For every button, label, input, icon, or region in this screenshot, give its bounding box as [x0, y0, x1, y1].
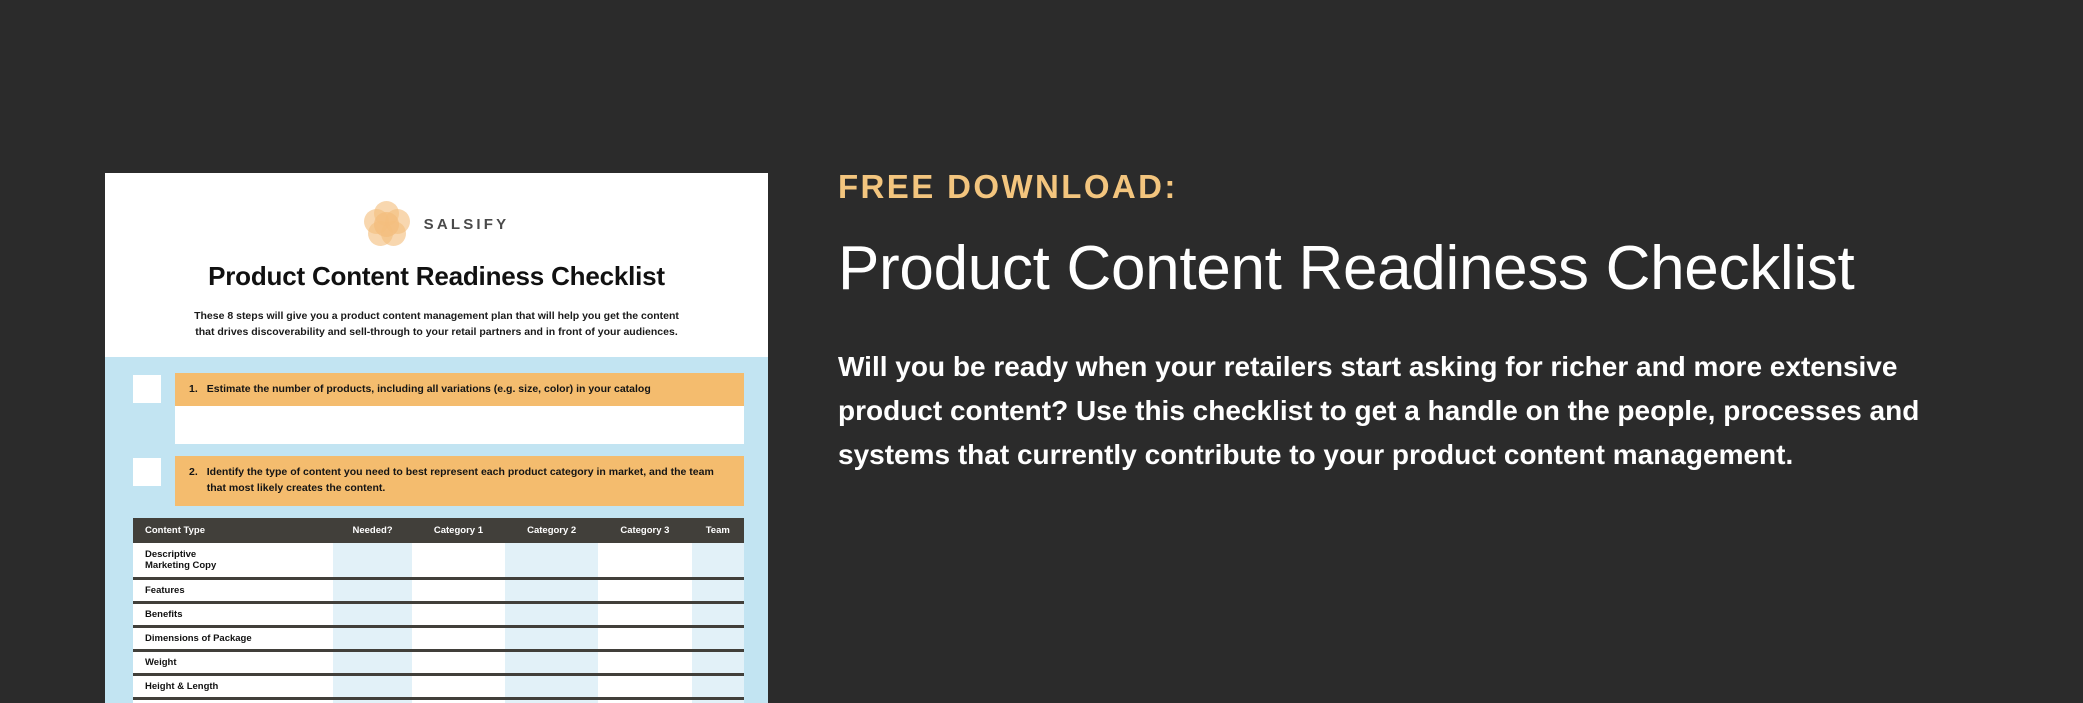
table-header-row: Content Type Needed? Category 1 Category…	[133, 518, 744, 543]
checklist-item-content: 2. Identify the type of content you need…	[175, 456, 744, 506]
table-cell-needed[interactable]	[333, 675, 412, 699]
table-cell-label: Height & Length	[133, 675, 333, 699]
checklist-item-text-before: Identify the type of content you need to	[207, 466, 406, 478]
table-row[interactable]: Size	[133, 699, 744, 703]
checklist-item-text: Identify the type of content you need to…	[207, 465, 730, 497]
promo-eyebrow: FREE DOWNLOAD:	[838, 168, 2018, 206]
table-cell-needed[interactable]	[333, 579, 412, 603]
table-row[interactable]: Features	[133, 579, 744, 603]
document-header: SALSIFY Product Content Readiness Checkl…	[105, 173, 768, 357]
table-cell-needed[interactable]	[333, 627, 412, 651]
checklist-checkbox[interactable]	[133, 458, 161, 486]
table-cell-category-1[interactable]	[412, 699, 505, 703]
table-row[interactable]: Height & Length	[133, 675, 744, 699]
table-cell-category-1[interactable]	[412, 627, 505, 651]
table-column-header: Category 1	[412, 518, 505, 543]
salsify-flower-icon	[364, 201, 410, 247]
table-cell-label: Size	[133, 699, 333, 703]
table-row[interactable]: Weight	[133, 651, 744, 675]
table-cell-category-3[interactable]	[598, 651, 691, 675]
page-root: SALSIFY Product Content Readiness Checkl…	[0, 0, 2083, 703]
checklist-item-bar: 2. Identify the type of content you need…	[175, 456, 744, 506]
promo-title: Product Content Readiness Checklist	[838, 230, 2018, 309]
table-cell-label: Weight	[133, 651, 333, 675]
checklist-write-area[interactable]	[175, 406, 744, 444]
table-cell-label: Descriptive Marketing Copy	[133, 543, 333, 579]
table-cell-category-1[interactable]	[412, 675, 505, 699]
promo-panel: FREE DOWNLOAD: Product Content Readiness…	[838, 168, 2018, 477]
table-cell-category-2[interactable]	[505, 603, 598, 627]
table-cell-label-line-2: Marketing Copy	[145, 560, 329, 571]
document-subtitle: These 8 steps will give you a product co…	[172, 308, 702, 341]
document-subtitle-line-1: These 8 steps will give you a product co…	[194, 310, 679, 322]
table-cell-category-3[interactable]	[598, 543, 691, 579]
table-cell-category-2[interactable]	[505, 651, 598, 675]
table-cell-team[interactable]	[692, 543, 744, 579]
checklist-checkbox[interactable]	[133, 375, 161, 403]
checklist-item-bar: 1. Estimate the number of products, incl…	[175, 373, 744, 407]
table-cell-team[interactable]	[692, 603, 744, 627]
table-column-header: Category 2	[505, 518, 598, 543]
table-cell-needed[interactable]	[333, 651, 412, 675]
table-column-header: Content Type	[133, 518, 333, 543]
document-title: Product Content Readiness Checklist	[105, 261, 768, 292]
checklist-item-number: 1.	[189, 382, 198, 398]
content-type-table[interactable]: Content Type Needed? Category 1 Category…	[133, 518, 744, 703]
logo-wordmark: SALSIFY	[424, 216, 510, 233]
promo-body: Will you be ready when your retailers st…	[838, 345, 1963, 478]
table-cell-category-3[interactable]	[598, 699, 691, 703]
table-cell-category-3[interactable]	[598, 603, 691, 627]
table-cell-category-2[interactable]	[505, 579, 598, 603]
table-cell-needed[interactable]	[333, 543, 412, 579]
table-cell-team[interactable]	[692, 651, 744, 675]
checklist-item-text-emphasis: best	[406, 466, 428, 478]
checklist-item[interactable]: 1. Estimate the number of products, incl…	[105, 373, 768, 445]
table-cell-category-2[interactable]	[505, 627, 598, 651]
table-cell-team[interactable]	[692, 627, 744, 651]
logo-row: SALSIFY	[105, 201, 768, 247]
table-row[interactable]: Dimensions of Package	[133, 627, 744, 651]
table-cell-category-3[interactable]	[598, 675, 691, 699]
table-cell-team[interactable]	[692, 699, 744, 703]
table-column-header: Needed?	[333, 518, 412, 543]
document-preview[interactable]: SALSIFY Product Content Readiness Checkl…	[105, 173, 768, 703]
table-column-header: Team	[692, 518, 744, 543]
table-cell-category-3[interactable]	[598, 627, 691, 651]
document-body: 1. Estimate the number of products, incl…	[105, 357, 768, 703]
table-row[interactable]: Descriptive Marketing Copy	[133, 543, 744, 579]
checklist-item[interactable]: 2. Identify the type of content you need…	[105, 456, 768, 506]
document-subtitle-line-2: that drives discoverability and sell-thr…	[195, 326, 678, 338]
table-cell-category-1[interactable]	[412, 543, 505, 579]
table-cell-team[interactable]	[692, 579, 744, 603]
table-cell-label-line-1: Descriptive	[145, 549, 329, 560]
table-cell-team[interactable]	[692, 675, 744, 699]
table-column-header: Category 3	[598, 518, 691, 543]
table-cell-category-2[interactable]	[505, 699, 598, 703]
checklist-item-content: 1. Estimate the number of products, incl…	[175, 373, 744, 445]
checklist-item-text: Estimate the number of products, includi…	[207, 382, 651, 398]
table-cell-category-2[interactable]	[505, 675, 598, 699]
table-cell-category-3[interactable]	[598, 579, 691, 603]
checklist-item-number: 2.	[189, 465, 198, 497]
table-cell-label: Benefits	[133, 603, 333, 627]
table-cell-needed[interactable]	[333, 603, 412, 627]
table-cell-needed[interactable]	[333, 699, 412, 703]
table-cell-category-2[interactable]	[505, 543, 598, 579]
table-cell-label: Dimensions of Package	[133, 627, 333, 651]
table-row[interactable]: Benefits	[133, 603, 744, 627]
table-cell-category-1[interactable]	[412, 651, 505, 675]
table-cell-category-1[interactable]	[412, 579, 505, 603]
table-cell-category-1[interactable]	[412, 603, 505, 627]
table-cell-label: Features	[133, 579, 333, 603]
